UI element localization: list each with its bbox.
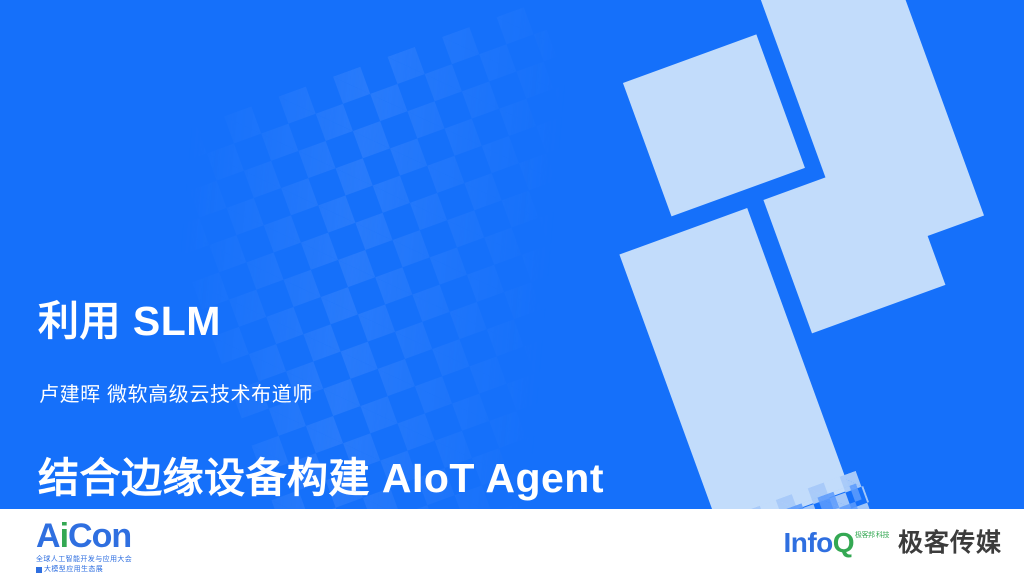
aicon-letter-i: i [60, 519, 68, 553]
aicon-tagline-line-2: 大模型应用生态展 [44, 565, 103, 575]
infoq-chinese-name: 极客传媒 [898, 531, 1002, 556]
infoq-text-info: Info [783, 529, 832, 557]
aicon-tagline-line-2-wrap: 大模型应用生态展 [36, 565, 132, 575]
slide-background: 利用 SLM 结合边缘设备构建 AIoT Agent 卢建晖 微软高级云技术布道… [0, 0, 1024, 509]
presentation-slide: 利用 SLM 结合边缘设备构建 AIoT Agent 卢建晖 微软高级云技术布道… [0, 0, 1024, 576]
slide-title: 利用 SLM 结合边缘设备构建 AIoT Agent [38, 190, 604, 509]
slide-title-line-1: 利用 SLM [38, 295, 604, 347]
aicon-wordmark: AiCon [36, 519, 132, 553]
aicon-tagline: 全球人工智能开发与应用大会 大模型应用生态展 [36, 555, 132, 575]
slide-title-line-2: 结合边缘设备构建 AIoT Agent [38, 452, 604, 504]
infoq-logo: InfoQ极客邦 科技 极客传媒 [783, 529, 1002, 557]
aicon-letter-a: A [36, 519, 60, 553]
slide-footer: AiCon 全球人工智能开发与应用大会 大模型应用生态展 InfoQ极客邦 科技… [0, 509, 1024, 576]
infoq-superscript-mark: 极客邦 科技 [855, 532, 889, 540]
shape-square-top-left [623, 34, 805, 216]
speaker-byline: 卢建晖 微软高级云技术布道师 [39, 378, 313, 407]
infoq-letter-q: Q [833, 529, 854, 557]
aicon-logo: AiCon 全球人工智能开发与应用大会 大模型应用生态展 [36, 519, 132, 575]
aicon-square-bullet-icon [36, 567, 42, 573]
aicon-letters-con: Con [68, 519, 131, 553]
infoq-wordmark: InfoQ极客邦 科技 [783, 529, 889, 557]
aicon-tagline-line-1: 全球人工智能开发与应用大会 [36, 555, 132, 565]
